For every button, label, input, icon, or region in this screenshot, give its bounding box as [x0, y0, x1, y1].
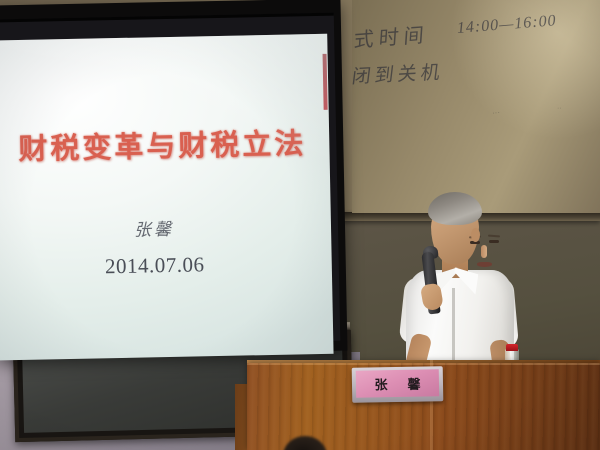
speaker-hair — [428, 192, 482, 225]
whiteboard-smudge-2: ·· — [557, 105, 562, 112]
whiteboard-smudge-1: ··· — [492, 108, 501, 118]
water-bottle-cap — [506, 344, 518, 351]
slide-edge-artifact — [323, 54, 328, 110]
speaker-ear — [471, 228, 480, 242]
slide-author: 张馨 — [9, 212, 299, 243]
projection-screen-surface: 财税变革与财税立法 张馨 2014.07.06 — [0, 34, 334, 361]
projection-screen: 财税变革与财税立法 张馨 2014.07.06 — [0, 0, 347, 357]
whiteboard-handwriting-line-2: 闭到关机 — [352, 57, 446, 89]
nameplate-surname: 张 — [374, 374, 387, 393]
speaker-eyebrow-right — [488, 235, 500, 238]
speaker-mouth — [477, 262, 492, 267]
nameplate-given-name: 馨 — [407, 374, 420, 393]
screen-light-vignette — [0, 34, 334, 361]
projection-screen-frame: 财税变革与财税立法 张馨 2014.07.06 — [0, 13, 340, 348]
lecture-photo-scene: 式时间 14:00—16:00 闭到关机 ··· ·· 财税变革与财税立法 张馨… — [0, 0, 600, 450]
slide-date: 2014.07.06 — [10, 250, 300, 281]
whiteboard: 式时间 14:00—16:00 闭到关机 ··· ·· — [352, 0, 600, 213]
whiteboard-handwriting-line-1: 式时间 — [353, 18, 430, 53]
speaker-eye-right — [489, 240, 499, 243]
slide-title: 财税变革与财税立法 — [7, 120, 318, 168]
nameplate-card: 张 馨 — [356, 369, 439, 397]
nameplate: 张 馨 — [352, 366, 444, 403]
speaker-nose — [481, 245, 487, 258]
